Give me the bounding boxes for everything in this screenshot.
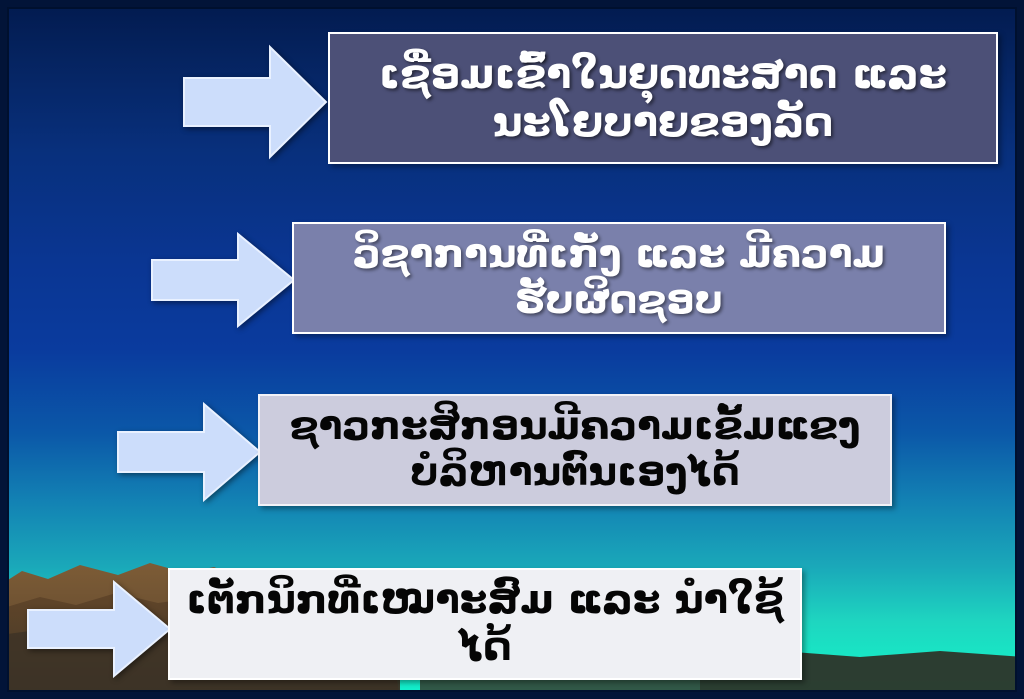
content-box-1-line-2: ນະໂຍບາຍຂອງລັດ [493,98,834,146]
content-box-2-line-1: ວິຊາການທີ່ເກັ່ງ ແລະ ມີຄວາມ [353,232,885,277]
slide-canvas: ເຊື່ອມເຂົ້າໃນຍຸດທະສາດ ແລະ ນະໂຍບາຍຂອງລັດ … [0,0,1024,699]
content-box-2-text: ວິຊາການທີ່ເກັ່ງ ແລະ ມີຄວາມ ຮັບຜິດຊອບ [308,232,930,324]
content-box-1: ເຊື່ອມເຂົ້າໃນຍຸດທະສາດ ແລະ ນະໂຍບາຍຂອງລັດ [328,32,998,164]
right-arrow-shape-icon [150,230,296,330]
content-box-3-line-2: ບໍລິຫານຕົນເອງໄດ້ [410,450,740,495]
content-box-4: ເຕັກນິກທີ່ເໝາະສົມ ແລະ ນຳໃຊ້ໄດ້ [168,568,802,680]
right-arrow-icon-3 [116,400,262,504]
content-box-1-text: ເຊື່ອມເຂົ້າໃນຍຸດທະສາດ ແລະ ນະໂຍບາຍຂອງລັດ [344,50,982,147]
content-box-3-line-1: ຊາວກະສິກອນມີຄວາມເຂັ້ມແຂງ [290,404,861,449]
content-box-1-line-1: ເຊື່ອມເຂົ້າໃນຍຸດທະສາດ ແລະ [379,50,947,98]
right-arrow-icon-2 [150,230,296,330]
right-arrow-shape-icon [182,42,328,162]
right-arrow-icon-1 [182,42,328,162]
content-box-3: ຊາວກະສິກອນມີຄວາມເຂັ້ມແຂງ ບໍລິຫານຕົນເອງໄດ… [258,394,892,506]
right-arrow-icon-4 [26,578,172,680]
right-arrow-shape-icon [26,578,172,680]
right-arrow-shape-icon [116,400,262,504]
content-box-4-text: ເຕັກນິກທີ່ເໝາະສົມ ແລະ ນຳໃຊ້ໄດ້ [184,577,786,671]
content-box-2-line-2: ຮັບຜິດຊອບ [515,278,723,323]
content-box-2: ວິຊາການທີ່ເກັ່ງ ແລະ ມີຄວາມ ຮັບຜິດຊອບ [292,222,946,334]
content-box-3-text: ຊາວກະສິກອນມີຄວາມເຂັ້ມແຂງ ບໍລິຫານຕົນເອງໄດ… [274,404,876,496]
content-box-4-line-1: ເຕັກນິກທີ່ເໝາະສົມ ແລະ ນຳໃຊ້ໄດ້ [186,577,783,670]
